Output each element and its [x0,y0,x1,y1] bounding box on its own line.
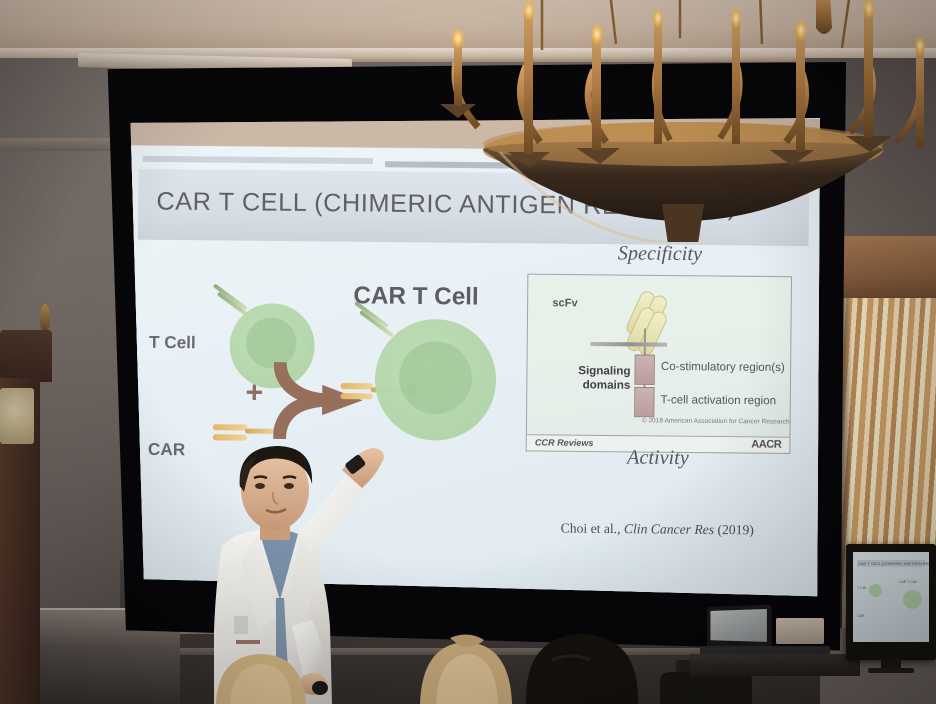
av-laptop [707,605,771,650]
av-equipment-table [690,596,860,676]
clock-hood [0,330,52,382]
activation-region-label: T-cell activation region [660,394,776,407]
citation-authors: Choi et al., [561,520,621,536]
clock-finial [40,304,50,330]
costimulatory-domain-box [634,354,654,384]
monitor-car-t-cell-label: CAR T Cell [899,580,916,584]
av-laptop-screen [710,609,766,642]
tcr-receptor-icon [213,283,248,310]
activity-caption: Activity [511,445,804,471]
confidence-monitor: CAR T CELL (CHIMERIC ANTIGEN RECEPTOR) T… [846,544,936,684]
citation-year: (2019) [717,522,754,537]
specificity-caption: Specificity [513,241,806,267]
cell-membrane-line [590,342,667,347]
monitor-screen: CAR T CELL (CHIMERIC ANTIGEN RECEPTOR) T… [853,552,929,642]
clock-face [0,388,34,444]
monitor-slide-title: CAR T CELL (CHIMERIC ANTIGEN RECEPTOR) [858,560,928,567]
car-receptor-icon [340,383,372,389]
car-t-cell-label: CAR T Cell [353,282,479,311]
car-receptor-icon [340,393,372,399]
accent-bar-1 [143,156,373,164]
brass-chandelier [430,0,936,242]
monitor-bezel: CAR T CELL (CHIMERIC ANTIGEN RECEPTOR) T… [846,544,936,660]
signaling-domains-label: Signaling domains [541,364,630,393]
grandfather-clock [0,300,62,704]
monitor-t-cell-label: T Cell [857,586,866,590]
figure-copyright: © 2018 American Association for Cancer R… [612,417,790,426]
slide-citation: Choi et al., Clin Cancer Res (2019) [511,520,804,539]
av-table-surface [690,654,860,676]
scfv-label: scFv [552,297,577,309]
curtain-valance [836,236,936,298]
car-t-cell-nucleus [399,341,472,414]
tcr-receptor-icon [359,310,394,337]
car-t-cell-icon [374,319,496,441]
car-structure-figure: scFv Signaling domains Co-stimulatory re… [526,274,792,438]
car-structure-panel: Specificity scFv Signaling domains [511,241,807,547]
costimulatory-region-label: Co-stimulatory region(s) [661,361,785,374]
monitor-t-cell-icon [869,584,882,597]
monitor-base [868,668,914,673]
monitor-car-t-cell-icon [903,590,922,609]
citation-journal: Clin Cancer Res [624,521,714,537]
signaling-domains-line-2: domains [583,379,631,392]
activation-domain-box [634,387,654,417]
monitor-car-label: CAR [857,614,864,618]
t-cell-label: T Cell [149,333,196,354]
presentation-photo-scene: CAR T CELL (CHIMERIC ANTIGEN RECEPTOR) T… [0,0,936,704]
signaling-domains-line-1: Signaling [578,365,630,378]
av-mixer-box [776,618,824,644]
